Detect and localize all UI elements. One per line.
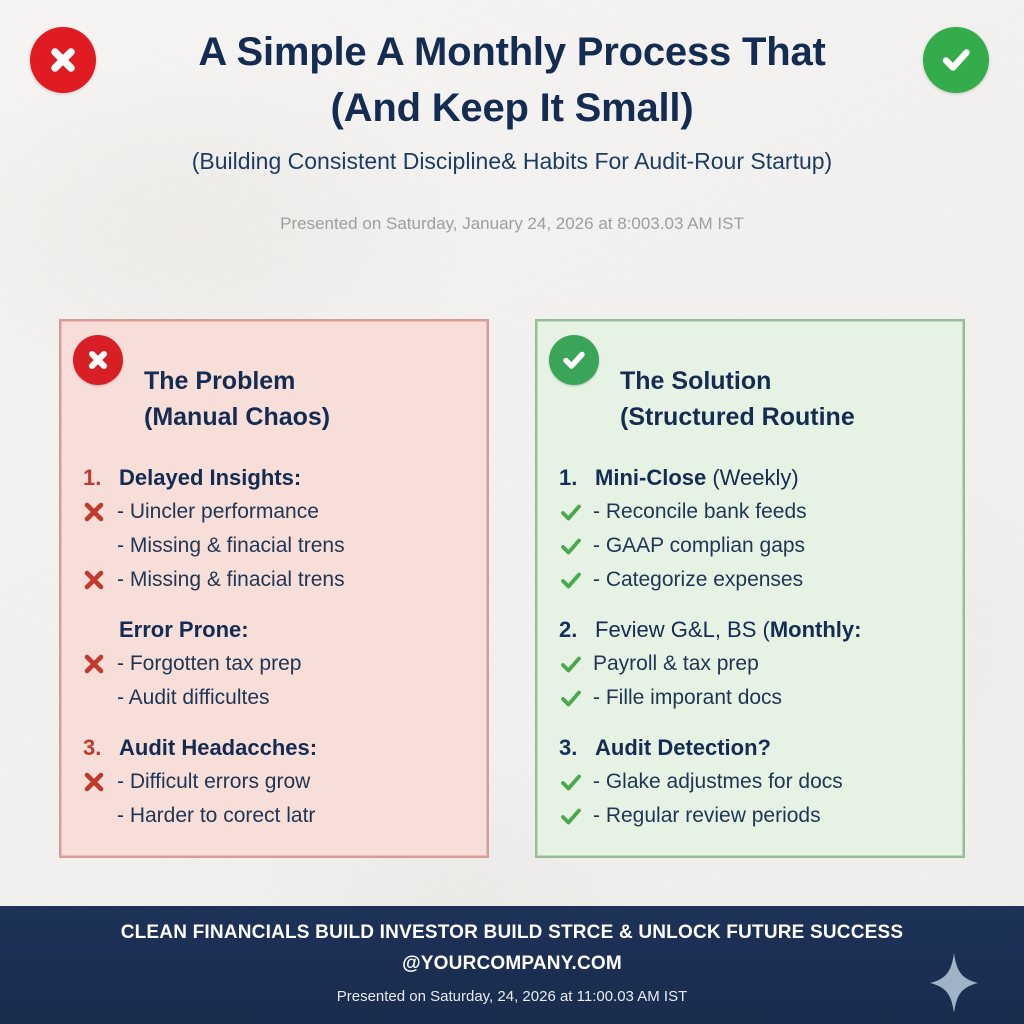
problem-heading-line-1: The Problem [144,363,474,399]
group-label-plain: (Weekly) [706,465,799,490]
group-title: 2. Feview G&L, BS (Monthly: [557,613,957,647]
no-mark-placeholder [83,529,117,563]
group-label: Mini-Close (Weekly) [595,461,799,495]
x-mark-icon [83,495,117,529]
list-item: - Regular review periods [557,799,957,833]
list-item-label: - Forgotten tax prep [117,647,301,681]
group-number: 3. [83,731,119,765]
list-item: Payroll & tax prep [557,647,957,681]
check-mark-icon [559,681,593,715]
check-mark-icon [559,563,593,597]
group-title: 1. Delayed Insights: [81,461,481,495]
solution-heading-line-1: The Solution [620,363,950,399]
list-item-label: - Difficult errors grow [117,765,310,799]
page-title: A Simple A Monthly Process That (And Kee… [120,24,904,136]
solution-group: 3. Audit Detection? - Glake adjustmes fo… [557,731,957,833]
solution-group: 2. Feview G&L, BS (Monthly: Payroll & ta… [557,613,957,715]
group-label-bold: Audit Headacches: [119,735,317,760]
problem-group: Error Prone: - Forgotten tax prep - Audi… [81,613,481,715]
group-label-bold-tail: Monthly: [770,617,862,642]
group-label: Error Prone: [119,613,249,647]
list-item-label: - Regular review periods [593,799,821,833]
problem-card-heading: The Problem (Manual Chaos) [144,363,474,435]
problem-card-body: 1. Delayed Insights: - Uincler performan… [81,461,481,833]
check-mark-icon [559,495,593,529]
footer-bar: CLEAN FINANCIALS BUILD INVESTOR BUILD ST… [0,906,1024,1024]
group-label: Audit Detection? [595,731,771,765]
group-label-bold: Delayed Insights: [119,465,301,490]
list-item: - Difficult errors grow [81,765,481,799]
footer-timestamp: Presented on Saturday, 24, 2026 at 11:00… [40,986,984,1008]
no-mark-placeholder [83,681,117,715]
list-item: - Audit difficultes [81,681,481,715]
list-item-label: - Reconcile bank feeds [593,495,807,529]
list-item: - Forgotten tax prep [81,647,481,681]
no-mark-placeholder [83,799,117,833]
list-item-label: - Categorize expenses [593,563,803,597]
group-number: 2. [559,613,595,647]
footer-handle-text: @YOURCOMPANY.COM [40,950,984,978]
page-subtitle: (Building Consistent Discipline& Habits … [62,145,962,177]
group-label-bold: Error Prone: [119,617,249,642]
infographic-poster: A Simple A Monthly Process That (And Kee… [0,0,1024,1024]
check-mark-icon [559,647,593,681]
solution-group: 1. Mini-Close (Weekly) - Reconcile bank … [557,461,957,597]
group-title: 1. Mini-Close (Weekly) [557,461,957,495]
x-mark-icon [83,765,117,799]
sparkle-icon [928,952,980,1014]
list-item: - Missing & finacial trens [81,563,481,597]
problem-group: 3. Audit Headacches: - Difficult errors … [81,731,481,833]
x-circle-icon [30,27,96,93]
group-title: 3. Audit Detection? [557,731,957,765]
check-circle-icon [549,335,599,385]
x-circle-icon [73,335,123,385]
list-item-label: Payroll & tax prep [593,647,759,681]
solution-card-heading: The Solution (Structured Routine [620,363,950,435]
list-item: - Categorize expenses [557,563,957,597]
header-timestamp: Presented on Saturday, January 24, 2026 … [62,212,962,236]
list-item: - Glake adjustmes for docs [557,765,957,799]
list-item-label: - Audit difficultes [117,681,270,715]
x-mark-icon [83,647,117,681]
group-label: Delayed Insights: [119,461,301,495]
check-mark-icon [559,529,593,563]
problem-group: 1. Delayed Insights: - Uincler performan… [81,461,481,597]
check-mark-icon [559,765,593,799]
x-mark-icon [83,563,117,597]
header-section: A Simple A Monthly Process That (And Kee… [0,0,1024,260]
group-title: 3. Audit Headacches: [81,731,481,765]
list-item-label: - Fille imporant docs [593,681,782,715]
problem-card: The Problem (Manual Chaos) 1. Delayed In… [59,319,489,858]
list-item: - Uincler performance [81,495,481,529]
group-label: Audit Headacches: [119,731,317,765]
group-label-bold: Audit Detection? [595,735,771,760]
group-label-bold: Mini-Close [595,465,706,490]
list-item-label: - Harder to corect latr [117,799,315,833]
check-mark-icon [559,799,593,833]
list-item: - Reconcile bank feeds [557,495,957,529]
footer-cta-text: CLEAN FINANCIALS BUILD INVESTOR BUILD ST… [40,919,984,947]
list-item-label: - Missing & finacial trens [117,563,345,597]
group-number: 1. [83,461,119,495]
title-line-2: (And Keep It Small) [120,80,904,136]
list-item-label: - Uincler performance [117,495,319,529]
group-number: 1. [559,461,595,495]
list-item: - Fille imporant docs [557,681,957,715]
group-title: Error Prone: [81,613,481,647]
group-number: 3. [559,731,595,765]
solution-heading-line-2: (Structured Routine [620,399,950,435]
list-item-label: - Glake adjustmes for docs [593,765,843,799]
title-line-1: A Simple A Monthly Process That [120,24,904,80]
solution-card-body: 1. Mini-Close (Weekly) - Reconcile bank … [557,461,957,833]
list-item: - GAAP complian gaps [557,529,957,563]
list-item-label: - GAAP complian gaps [593,529,805,563]
group-label: Feview G&L, BS (Monthly: [595,613,862,647]
list-item: - Missing & finacial trens [81,529,481,563]
list-item-label: - Missing & finacial trens [117,529,345,563]
problem-heading-line-2: (Manual Chaos) [144,399,474,435]
list-item: - Harder to corect latr [81,799,481,833]
solution-card: The Solution (Structured Routine 1. Mini… [535,319,965,858]
check-circle-icon [923,27,989,93]
group-label-plain: Feview G&L, BS ( [595,617,770,642]
